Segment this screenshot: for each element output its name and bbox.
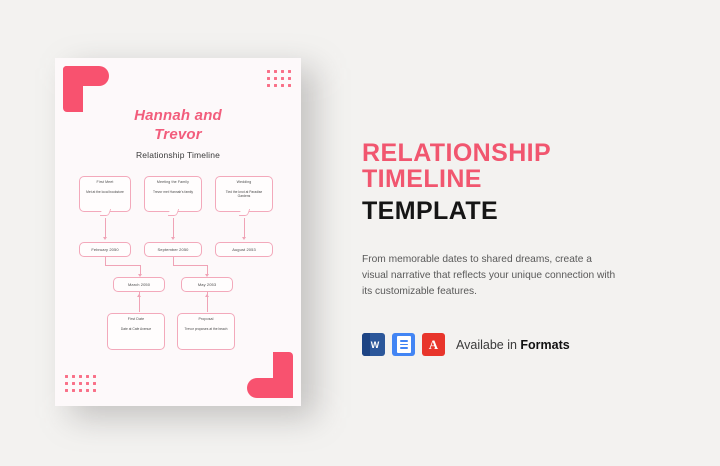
flowchart-event-node[interactable]: First Date Date at Cafe Avenue (107, 313, 165, 350)
arrow-head (137, 294, 141, 297)
connector-line (173, 218, 174, 238)
headline-line-1: RELATIONSHIP (362, 140, 652, 166)
arrow-head (103, 237, 107, 240)
node-date-label: September 2050 (158, 247, 189, 252)
node-date-label: March 2050 (128, 282, 150, 287)
arrow-head (205, 294, 209, 297)
node-description: Tied the knot at Paradise Gardens (218, 190, 270, 199)
connector-line (173, 257, 174, 265)
google-docs-icon[interactable] (392, 333, 415, 356)
node-date-label: May 2053 (198, 282, 216, 287)
connector-line (105, 265, 140, 266)
google-docs-page (397, 336, 411, 353)
pdf-icon-letter: A (429, 337, 438, 353)
flowchart-event-node[interactable]: First Meet Met at the local bookstore (79, 176, 131, 212)
card-header: Hannah and Trevor Relationship Timeline (55, 106, 301, 160)
arrow-head (242, 237, 246, 240)
headline-template-word: TEMPLATE (362, 196, 652, 226)
node-description: Trevor proposes at the beach (180, 327, 232, 331)
flowchart-date-node[interactable]: August 2053 (215, 242, 273, 257)
headline-accent: RELATIONSHIP TIMELINE (362, 140, 652, 192)
connector-line (173, 265, 207, 266)
word-icon-spine (362, 333, 370, 356)
arrow-head (171, 237, 175, 240)
node-description: Met at the local bookstore (82, 190, 128, 194)
node-title: First Meet (82, 180, 128, 185)
flowchart-date-node[interactable]: May 2053 (181, 277, 233, 292)
word-icon[interactable]: W (362, 333, 385, 356)
word-icon-letter: W (371, 340, 380, 350)
card-subtitle: Relationship Timeline (55, 150, 301, 160)
node-description: Trevor met Hannah's family (147, 190, 199, 194)
connector-line (105, 218, 106, 238)
couple-names-title: Hannah and Trevor (118, 106, 238, 144)
flowchart-event-node[interactable]: Wedding Tied the knot at Paradise Garden… (215, 176, 273, 212)
template-info-panel: RELATIONSHIP TIMELINE TEMPLATE From memo… (362, 140, 652, 356)
template-preview-card[interactable]: Hannah and Trevor Relationship Timeline … (55, 58, 301, 406)
node-description: Date at Cafe Avenue (110, 327, 162, 331)
node-title: Wedding (218, 180, 270, 185)
relationship-timeline-flowchart: First Meet Met at the local bookstore Me… (55, 176, 301, 391)
node-date-label: February 2050 (91, 247, 118, 252)
node-title: First Date (110, 317, 162, 322)
formats-text-plain: Availabe in (456, 338, 520, 352)
template-description: From memorable dates to shared dreams, c… (362, 252, 620, 300)
pdf-icon[interactable]: A (422, 333, 445, 356)
flowchart-event-node[interactable]: Meeting the Family Trevor met Hannah's f… (144, 176, 202, 212)
flowchart-date-node[interactable]: March 2050 (113, 277, 165, 292)
available-formats-row: W A Availabe in Formats (362, 333, 652, 356)
node-date-label: August 2053 (232, 247, 256, 252)
flowchart-event-node[interactable]: Proposal Trevor proposes at the beach (177, 313, 235, 350)
flowchart-date-node[interactable]: February 2050 (79, 242, 131, 257)
dot-grid-top-right (267, 70, 291, 87)
formats-text-bold: Formats (520, 338, 569, 352)
node-title: Meeting the Family (147, 180, 199, 185)
flowchart-date-node[interactable]: September 2050 (144, 242, 202, 257)
connector-line (244, 218, 245, 238)
headline-line-2: TIMELINE (362, 166, 652, 192)
available-formats-label: Availabe in Formats (456, 338, 570, 352)
connector-line (105, 257, 106, 265)
node-title: Proposal (180, 317, 232, 322)
